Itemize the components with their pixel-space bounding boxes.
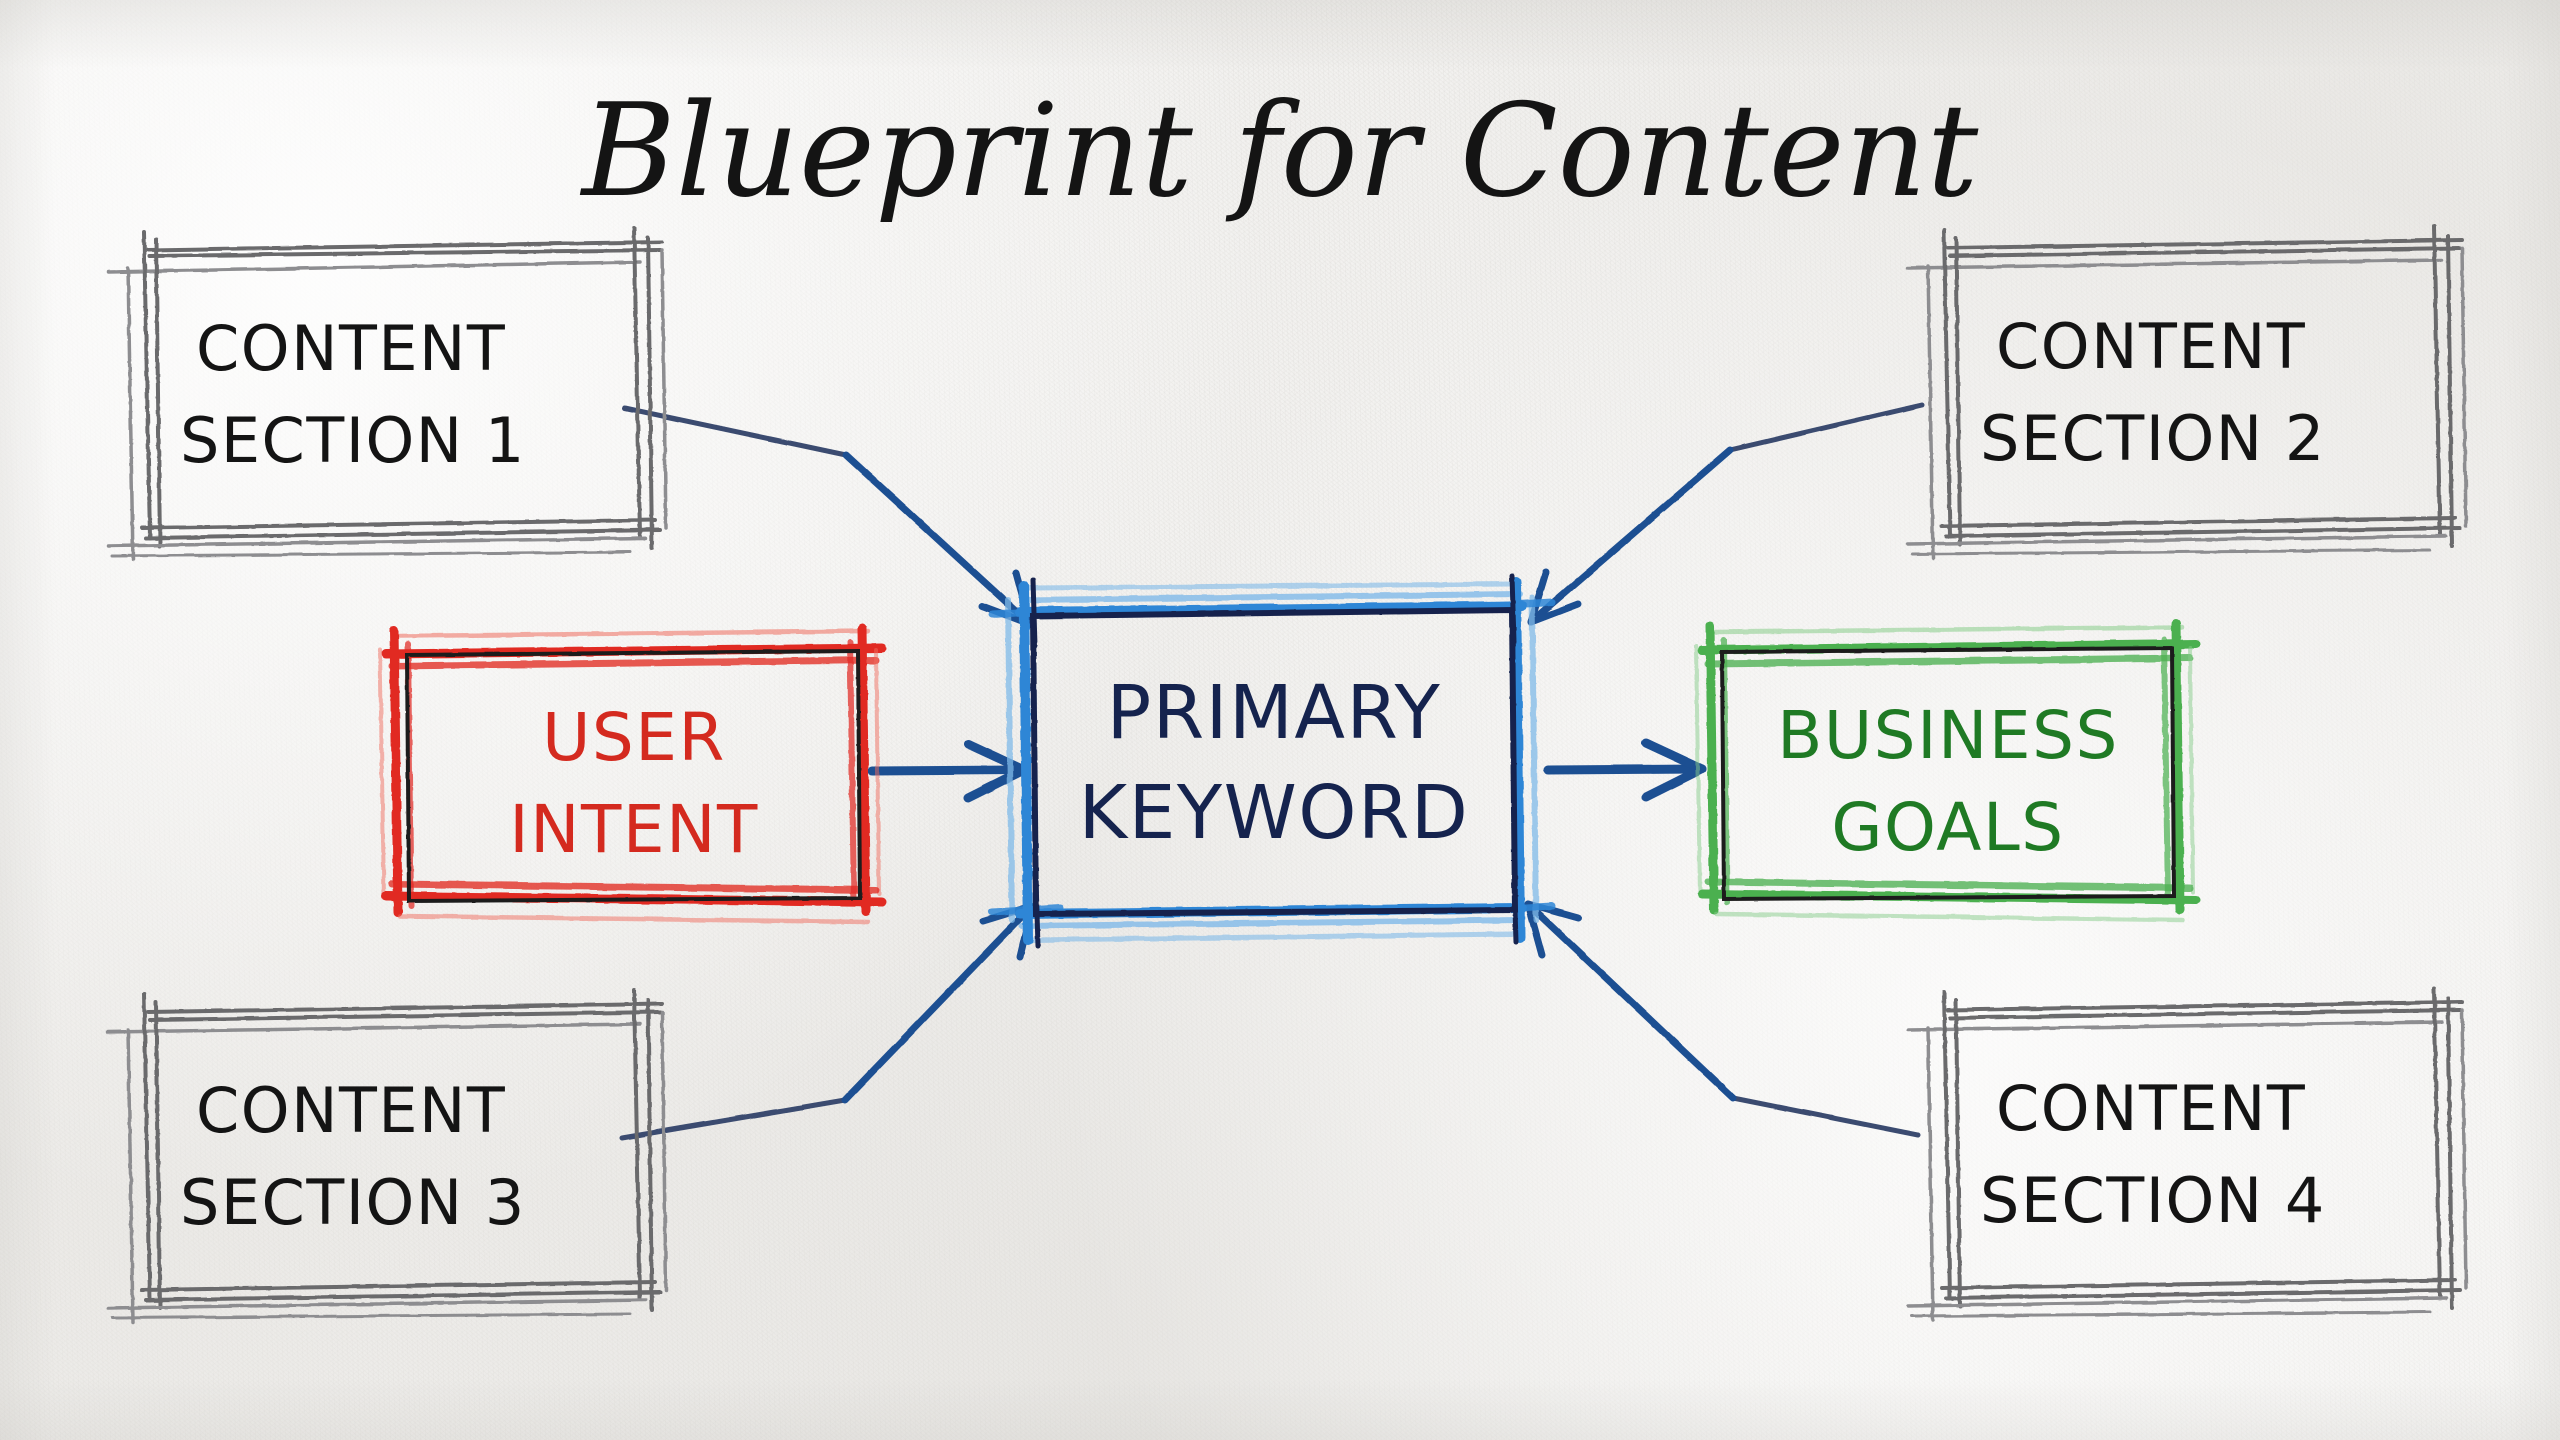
content-section-1-label-line2: SECTION 1 — [180, 404, 526, 477]
connector-center-to-businessgoals — [1548, 743, 1702, 797]
page-title: Blueprint for Content — [580, 77, 1979, 226]
content-section-4-label-line2: SECTION 4 — [1980, 1164, 2326, 1237]
node-primary-keyword[interactable]: PRIMARY KEYWORD — [992, 576, 1552, 946]
content-section-1-label-line1: CONTENT — [196, 312, 506, 385]
content-section-4-label-line1: CONTENT — [1996, 1072, 2306, 1145]
blueprint-diagram: Blueprint for Content — [0, 0, 2560, 1440]
primary-keyword-label-line2: KEYWORD — [1079, 770, 1470, 856]
business-goals-label-line1: BUSINESS — [1777, 697, 2119, 774]
diagram-canvas: Blueprint for Content — [0, 0, 2560, 1440]
primary-keyword-inner-line — [1033, 576, 1516, 946]
connector-section3-to-center — [622, 906, 1032, 1138]
node-business-goals[interactable]: BUSINESS GOALS — [1696, 624, 2196, 920]
content-section-2-label-line1: CONTENT — [1996, 310, 2306, 383]
connector-userintent-to-center — [872, 744, 1024, 798]
node-content-section-3[interactable]: CONTENT SECTION 3 — [108, 990, 666, 1322]
connector-section2-to-center — [1531, 405, 1922, 622]
content-section-2-frame — [1908, 226, 2466, 558]
user-intent-label-line1: USER — [542, 699, 726, 776]
content-section-3-label-line1: CONTENT — [196, 1074, 506, 1147]
node-user-intent[interactable]: USER INTENT — [380, 628, 882, 922]
content-section-3-frame — [108, 990, 666, 1322]
primary-keyword-frame — [992, 582, 1552, 940]
user-intent-label-line2: INTENT — [509, 791, 759, 868]
business-goals-label-line2: GOALS — [1831, 789, 2064, 866]
content-section-1-frame — [108, 228, 666, 560]
connector-section4-to-center — [1528, 904, 1918, 1135]
connector-section1-to-center — [625, 408, 1030, 624]
node-content-section-1[interactable]: CONTENT SECTION 1 — [108, 228, 666, 560]
primary-keyword-label-line1: PRIMARY — [1107, 670, 1442, 756]
node-content-section-4[interactable]: CONTENT SECTION 4 — [1908, 988, 2466, 1320]
content-section-4-frame — [1908, 988, 2466, 1320]
node-content-section-2[interactable]: CONTENT SECTION 2 — [1908, 226, 2466, 558]
content-section-3-label-line2: SECTION 3 — [180, 1166, 526, 1239]
content-section-2-label-line2: SECTION 2 — [1980, 402, 2326, 475]
